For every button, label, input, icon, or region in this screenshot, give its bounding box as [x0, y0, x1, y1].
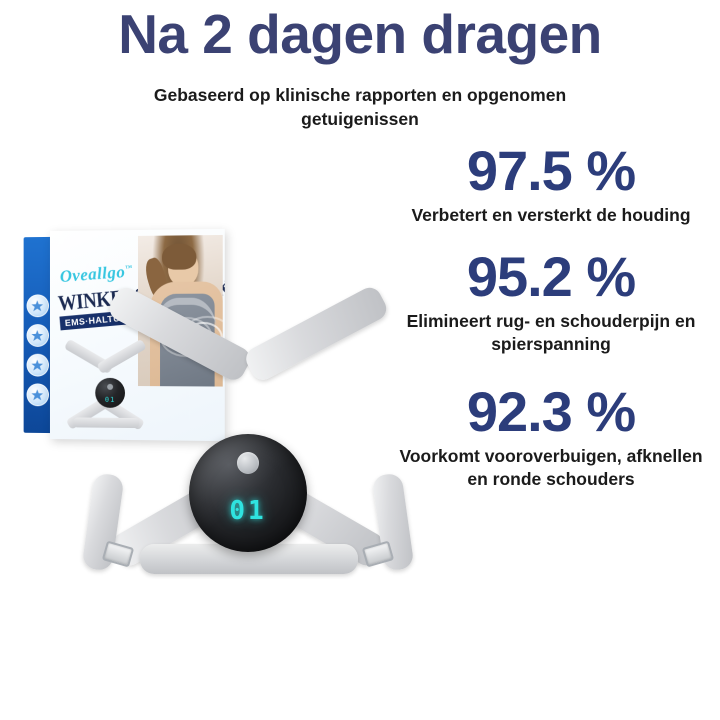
stat-value: 97.5 %	[382, 140, 720, 202]
statistics-list: 97.5 % Verbetert en versterkt de houding…	[382, 140, 720, 503]
infographic-canvas: Na 2 dagen dragen Gebaseerd op klinische…	[0, 0, 720, 720]
feature-icon-2	[27, 324, 49, 347]
stat-block: 95.2 % Elimineert rug- en schouderpijn e…	[382, 246, 720, 355]
power-button-icon	[237, 452, 259, 474]
brand-logo: Oveallgo™	[59, 261, 133, 286]
control-disc: 01	[189, 434, 307, 552]
page-title: Na 2 dagen dragen	[0, 6, 720, 64]
stat-value: 92.3 %	[382, 381, 720, 443]
stat-caption: Elimineert rug- en schouderpijn en spier…	[382, 310, 720, 356]
box-side-panel	[24, 237, 51, 433]
feature-icon-1	[27, 294, 49, 317]
brand-name: Oveallgo	[59, 262, 126, 286]
model-hair	[162, 243, 196, 269]
stat-caption: Verbetert en versterkt de houding	[382, 204, 720, 227]
page-subtitle: Gebaseerd op klinische rapporten en opge…	[110, 84, 610, 131]
product-image: Oveallgo™ WINKELSENSORIK EMS·HALTUNGSKOR…	[0, 218, 400, 688]
trademark-symbol: ™	[125, 264, 133, 273]
led-display: 01	[229, 496, 266, 526]
strap-upper-right	[242, 284, 390, 384]
feature-icon-3	[27, 354, 49, 377]
stat-caption: Voorkomt vooroverbuigen, afknellen en ro…	[382, 445, 720, 491]
feature-icon-4	[27, 383, 49, 406]
stat-block: 97.5 % Verbetert en versterkt de houding	[382, 140, 720, 226]
box-feature-icons	[27, 294, 49, 406]
stat-block: 92.3 % Voorkomt vooroverbuigen, afknelle…	[382, 381, 720, 490]
stat-value: 95.2 %	[382, 246, 720, 308]
posture-corrector-device: 01	[88, 348, 408, 658]
